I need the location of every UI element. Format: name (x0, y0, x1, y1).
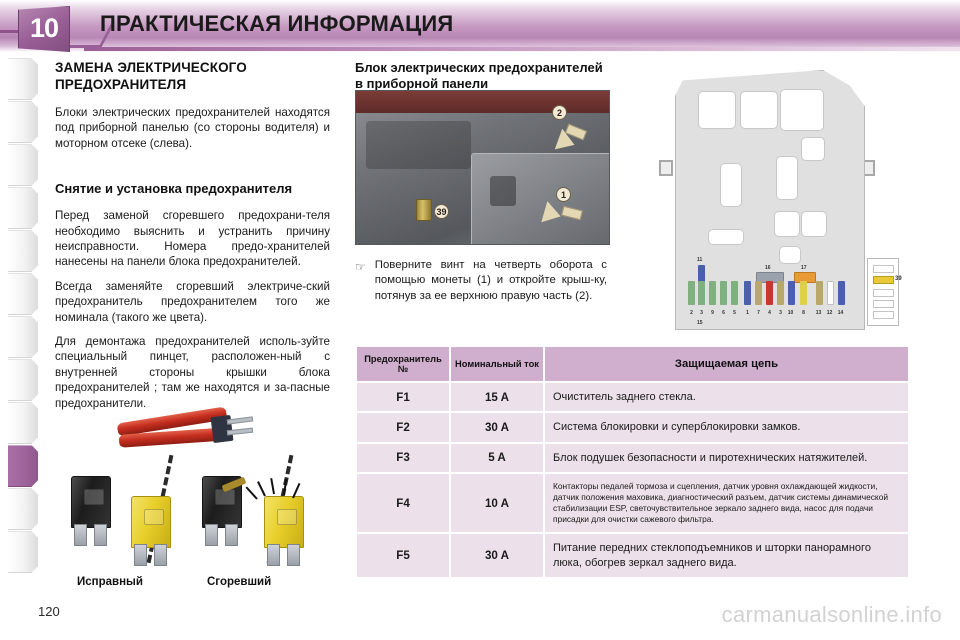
fuse-slot-3 (709, 281, 716, 305)
fuse-number-11b: 8 (799, 310, 808, 316)
spare-slot-3 (873, 289, 894, 297)
instruction-bullet: ☞ Поверните винт на четверть оборота с п… (355, 258, 607, 304)
fusebox-spare-legend: 39 (867, 258, 899, 326)
relay-socket-3 (780, 89, 824, 131)
table-row: F5 30 A Питание передних стеклоподъемник… (357, 534, 908, 577)
fuse-number-9: 3 (776, 310, 785, 316)
table-row: F2 30 A Система блокировки и суперблокир… (357, 413, 908, 441)
spare-slot-39-highlight (873, 276, 894, 284)
fuse-number-14: 14 (836, 310, 845, 316)
fuse-11-number: 11 (697, 257, 702, 263)
relay-17-number: 17 (801, 265, 807, 271)
spare-slot-5 (873, 311, 894, 319)
cell-fuse-id: F3 (357, 444, 449, 472)
coin-icon (416, 199, 432, 221)
relay-socket-9 (779, 246, 801, 264)
table-row: F4 10 A Контакторы педалей тормоза и сце… (357, 474, 908, 532)
cell-current: 15 A (451, 383, 543, 411)
relay-socket-7 (774, 211, 800, 237)
fuse-15-number: 15 (697, 320, 703, 326)
fuse-assignment-table: Предохранитель № Номинальный ток Защищае… (355, 345, 910, 579)
chapter-tab-6[interactable] (8, 273, 38, 315)
fuse-number-3: 9 (708, 310, 717, 316)
fuse-number-6: 1 (743, 310, 752, 316)
subsection-title-removal: Снятие и установка предохранителя (55, 181, 330, 197)
instruction-text: Поверните винт на четверть оборота с пом… (375, 258, 607, 304)
cell-fuse-id: F2 (357, 413, 449, 441)
section-title-fuse-replacement: ЗАМЕНА ЭЛЕКТРИЧЕСКОГО ПРЕДОХРАНИТЕЛЯ (55, 60, 330, 94)
relay-socket-10 (708, 229, 744, 245)
manual-page: 10 ПРАКТИЧЕСКАЯ ИНФОРМАЦИЯ ЗАМЕНА ЭЛЕКТР… (0, 0, 960, 640)
relay-socket-1 (698, 91, 736, 129)
fuse-number-4: 6 (719, 310, 728, 316)
fuse-slot-14 (838, 281, 845, 305)
legend-number-39: 39 (895, 276, 902, 282)
fusebox-body: 16 17 11 15 2 3 9 6 5 1 7 4 3 (675, 70, 865, 330)
chapter-tab-strip[interactable] (8, 58, 38, 603)
header-underline-decor (84, 47, 960, 51)
photo-callout-1: 1 (556, 187, 571, 202)
fuse-slot-7 (755, 281, 762, 305)
site-watermark: carmanualsonline.info (722, 602, 942, 628)
fuse-number-10: 10 (786, 310, 795, 316)
relay-socket-8 (801, 211, 827, 237)
table-row: F1 15 A Очиститель заднего стекла. (357, 383, 908, 411)
section-title-dashboard-fusebox: Блок электрических предохранителей в при… (355, 60, 607, 93)
arrow-2-head (555, 129, 578, 155)
pointing-hand-icon: ☞ (355, 258, 366, 304)
fuse-number-5: 5 (730, 310, 739, 316)
fuse-slot-10 (788, 281, 795, 305)
chapter-number: 10 (30, 15, 58, 44)
photo-callout-2: 2 (552, 105, 567, 120)
cell-circuit: Система блокировки и суперблокировки зам… (545, 413, 908, 441)
relay-socket-6 (776, 156, 798, 200)
chapter-tab-10-active[interactable] (8, 445, 38, 487)
chapter-tab-2[interactable] (8, 101, 38, 143)
table-header-row: Предохранитель № Номинальный ток Защищае… (357, 347, 908, 381)
cell-fuse-id: F4 (357, 474, 449, 532)
cell-circuit: Питание передних стеклоподъемников и што… (545, 534, 908, 577)
photo-callout-39: 39 (434, 204, 449, 219)
col-header-rated-current: Номинальный ток (451, 347, 543, 381)
chapter-tab-5[interactable] (8, 230, 38, 272)
fuse-slot-12 (816, 281, 823, 305)
cell-circuit: Блок подушек безопасности и пиротехничес… (545, 444, 908, 472)
relay-socket-5 (720, 163, 742, 207)
col-header-fuse-number: Предохранитель № (357, 347, 449, 381)
fuse-slot-8 (766, 281, 773, 305)
fuse-number-1: 2 (687, 310, 696, 316)
fuse-slot-6 (744, 281, 751, 305)
chapter-tab-9[interactable] (8, 402, 38, 444)
label-good-fuse: Исправный (77, 576, 143, 588)
fuse-number-12: 13 (814, 310, 823, 316)
paragraph-2: Всегда заменяйте сгоревший электриче-ски… (55, 279, 330, 325)
chapter-tab-7[interactable] (8, 316, 38, 358)
chapter-tab-11[interactable] (8, 488, 38, 530)
cell-fuse-id: F1 (357, 383, 449, 411)
page-number: 120 (38, 604, 60, 619)
chapter-tab-3[interactable] (8, 144, 38, 186)
left-column: ЗАМЕНА ЭЛЕКТРИЧЕСКОГО ПРЕДОХРАНИТЕЛЯ Бло… (55, 60, 330, 411)
chapter-tab-12[interactable] (8, 531, 38, 573)
cell-current: 10 A (451, 474, 543, 532)
fuse-good-yellow-icon (127, 496, 173, 568)
fuse-number-2: 3 (697, 310, 706, 316)
intro-paragraph: Блоки электрических предохранителей нахо… (55, 105, 330, 151)
fuse-slot-13 (827, 281, 834, 305)
cell-fuse-id: F5 (357, 534, 449, 577)
fuse-number-13: 12 (825, 310, 834, 316)
fuse-slot-11b (800, 281, 807, 305)
chapter-tab-8[interactable] (8, 359, 38, 401)
dashboard-fusebox-photo: 39 2 1 (355, 90, 610, 245)
chapter-badge: 10 (18, 6, 70, 52)
col-header-protected-circuit: Защищаемая цепь (545, 347, 908, 381)
fuse-blown-yellow-icon (260, 496, 306, 568)
relay-socket-4 (801, 137, 825, 161)
middle-column: Блок электрических предохранителей в при… (355, 60, 607, 93)
fuse-slot-5 (731, 281, 738, 305)
fuse-slot-9 (777, 281, 784, 305)
fuse-comparison-figure: Исправный Сгоревший (55, 404, 340, 599)
fuse-slot-2 (698, 281, 705, 305)
cell-circuit: Очиститель заднего стекла. (545, 383, 908, 411)
fusebox-clip-left-icon (659, 160, 673, 176)
fuse-number-8: 4 (765, 310, 774, 316)
table-row: F3 5 A Блок подушек безопасности и пирот… (357, 444, 908, 472)
cell-current: 30 A (451, 413, 543, 441)
label-blown-fuse: Сгоревший (207, 576, 271, 588)
relay-16-number: 16 (765, 265, 771, 271)
cell-current: 30 A (451, 534, 543, 577)
fuse-blown-black-icon (198, 476, 244, 548)
fuse-slot-4 (720, 281, 727, 305)
spare-slot-1 (873, 265, 894, 273)
page-header: 10 ПРАКТИЧЕСКАЯ ИНФОРМАЦИЯ (0, 0, 960, 52)
chapter-tab-4[interactable] (8, 187, 38, 229)
paragraph-3: Для демонтажа предохранителей исполь-зуй… (55, 334, 330, 411)
cell-circuit: Контакторы педалей тормоза и сцепления, … (545, 474, 908, 532)
fuse-slot-1 (688, 281, 695, 305)
paragraph-1: Перед заменой сгоревшего предохрани-теля… (55, 208, 330, 270)
fuse-good-black-icon (67, 476, 113, 548)
fuse-puller-pliers-icon (117, 412, 245, 452)
fuse-number-7: 7 (754, 310, 763, 316)
chapter-tab-1[interactable] (8, 58, 38, 100)
spare-slot-4 (873, 300, 894, 308)
fusebox-layout-diagram: 16 17 11 15 2 3 9 6 5 1 7 4 3 (655, 62, 915, 337)
page-title: ПРАКТИЧЕСКАЯ ИНФОРМАЦИЯ (100, 11, 453, 37)
relay-socket-2 (740, 91, 778, 129)
cell-current: 5 A (451, 444, 543, 472)
